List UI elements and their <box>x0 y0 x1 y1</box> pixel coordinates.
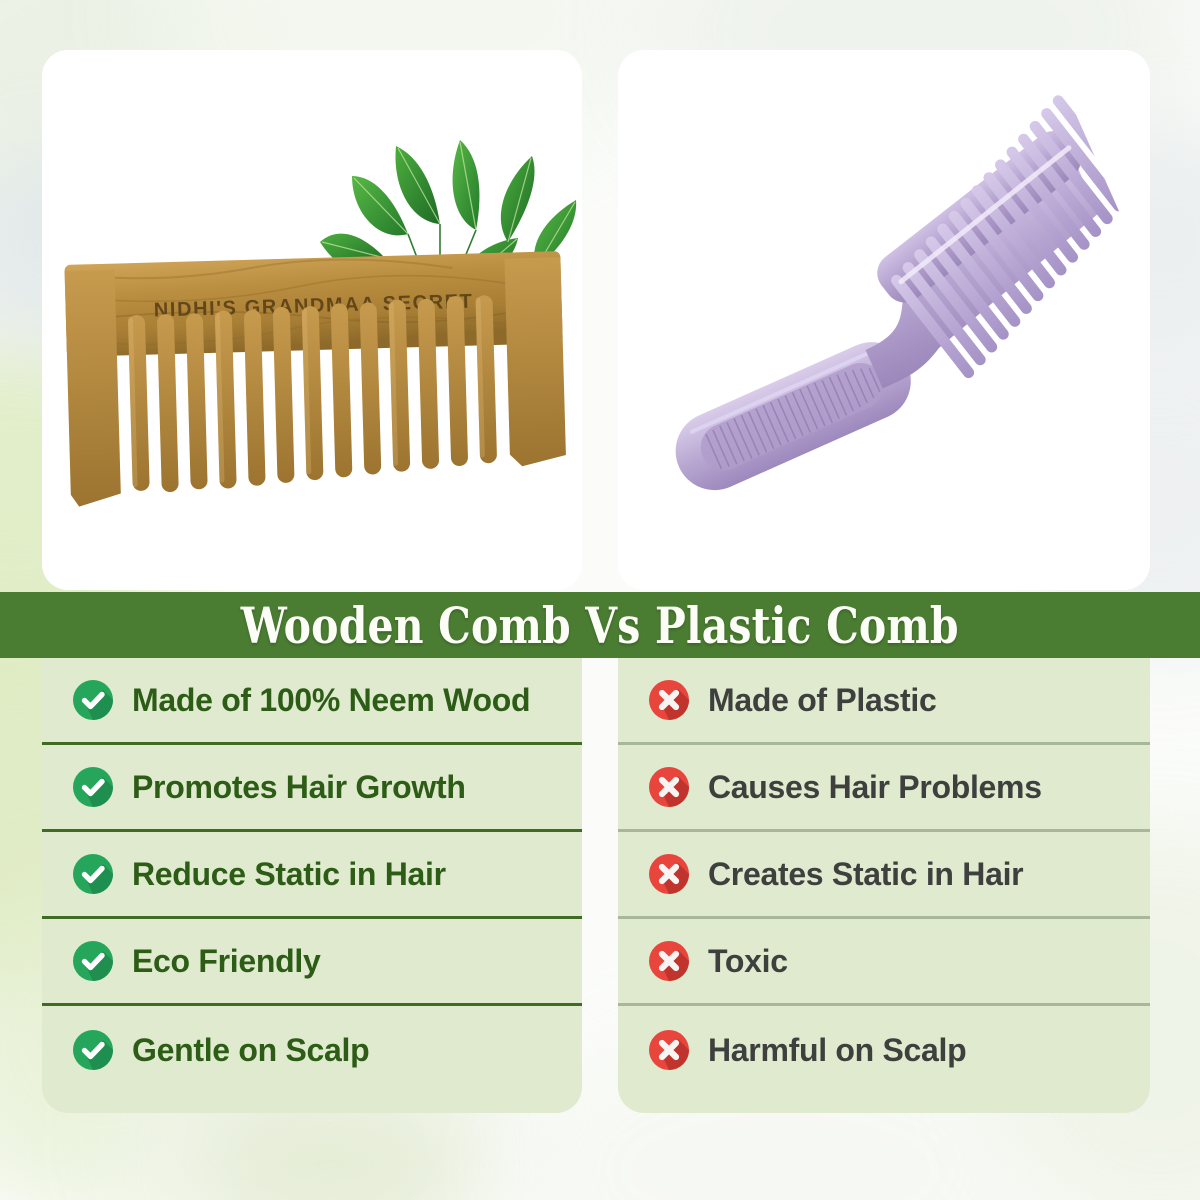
list-item-label: Causes Hair Problems <box>708 771 1042 803</box>
check-circle-icon <box>72 1029 114 1071</box>
cross-circle-icon <box>648 766 690 808</box>
list-item-label: Toxic <box>708 945 788 977</box>
list-item: Made of 100% Neem Wood <box>42 658 582 745</box>
plastic-comb-photo-card <box>618 50 1150 590</box>
plastic-comb-drawbacks-panel: Made of Plastic Causes Hair Problems Cre… <box>618 658 1150 1113</box>
list-item: Promotes Hair Growth <box>42 745 582 832</box>
list-item: Gentle on Scalp <box>42 1006 582 1093</box>
list-item-label: Reduce Static in Hair <box>132 858 446 890</box>
check-circle-icon <box>72 766 114 808</box>
plastic-comb-icon <box>618 89 1150 590</box>
list-item-label: Promotes Hair Growth <box>132 771 466 803</box>
plastic-comb-stage <box>618 50 1150 590</box>
check-circle-icon <box>72 940 114 982</box>
list-item-label: Made of Plastic <box>708 684 936 716</box>
page-title: Wooden Comb Vs Plastic Comb <box>241 596 959 655</box>
wooden-comb-icon: NIDHI'S GRANDMAA SECRET <box>52 243 580 537</box>
check-circle-icon <box>72 853 114 895</box>
cross-circle-icon <box>648 940 690 982</box>
list-item: Made of Plastic <box>618 658 1150 745</box>
list-item: Toxic <box>618 919 1150 1006</box>
cross-circle-icon <box>648 1029 690 1071</box>
list-item-label: Eco Friendly <box>132 945 320 977</box>
list-item-label: Creates Static in Hair <box>708 858 1023 890</box>
list-item-label: Gentle on Scalp <box>132 1034 369 1066</box>
wooden-comb-photo-card: NIDHI'S GRANDMAA SECRET <box>42 50 582 590</box>
wooden-comb-stage: NIDHI'S GRANDMAA SECRET <box>42 50 582 590</box>
comparison-title-banner: Wooden Comb Vs Plastic Comb <box>0 592 1200 658</box>
list-item: Reduce Static in Hair <box>42 832 582 919</box>
list-item-label: Harmful on Scalp <box>708 1034 966 1066</box>
wooden-comb-benefits-panel: Made of 100% Neem Wood Promotes Hair Gro… <box>42 658 582 1113</box>
cross-circle-icon <box>648 679 690 721</box>
list-item: Harmful on Scalp <box>618 1006 1150 1093</box>
list-item: Causes Hair Problems <box>618 745 1150 832</box>
card-gap <box>582 50 618 592</box>
cross-circle-icon <box>648 853 690 895</box>
list-item: Eco Friendly <box>42 919 582 1006</box>
list-item-label: Made of 100% Neem Wood <box>132 684 530 716</box>
check-circle-icon <box>72 679 114 721</box>
list-item: Creates Static in Hair <box>618 832 1150 919</box>
